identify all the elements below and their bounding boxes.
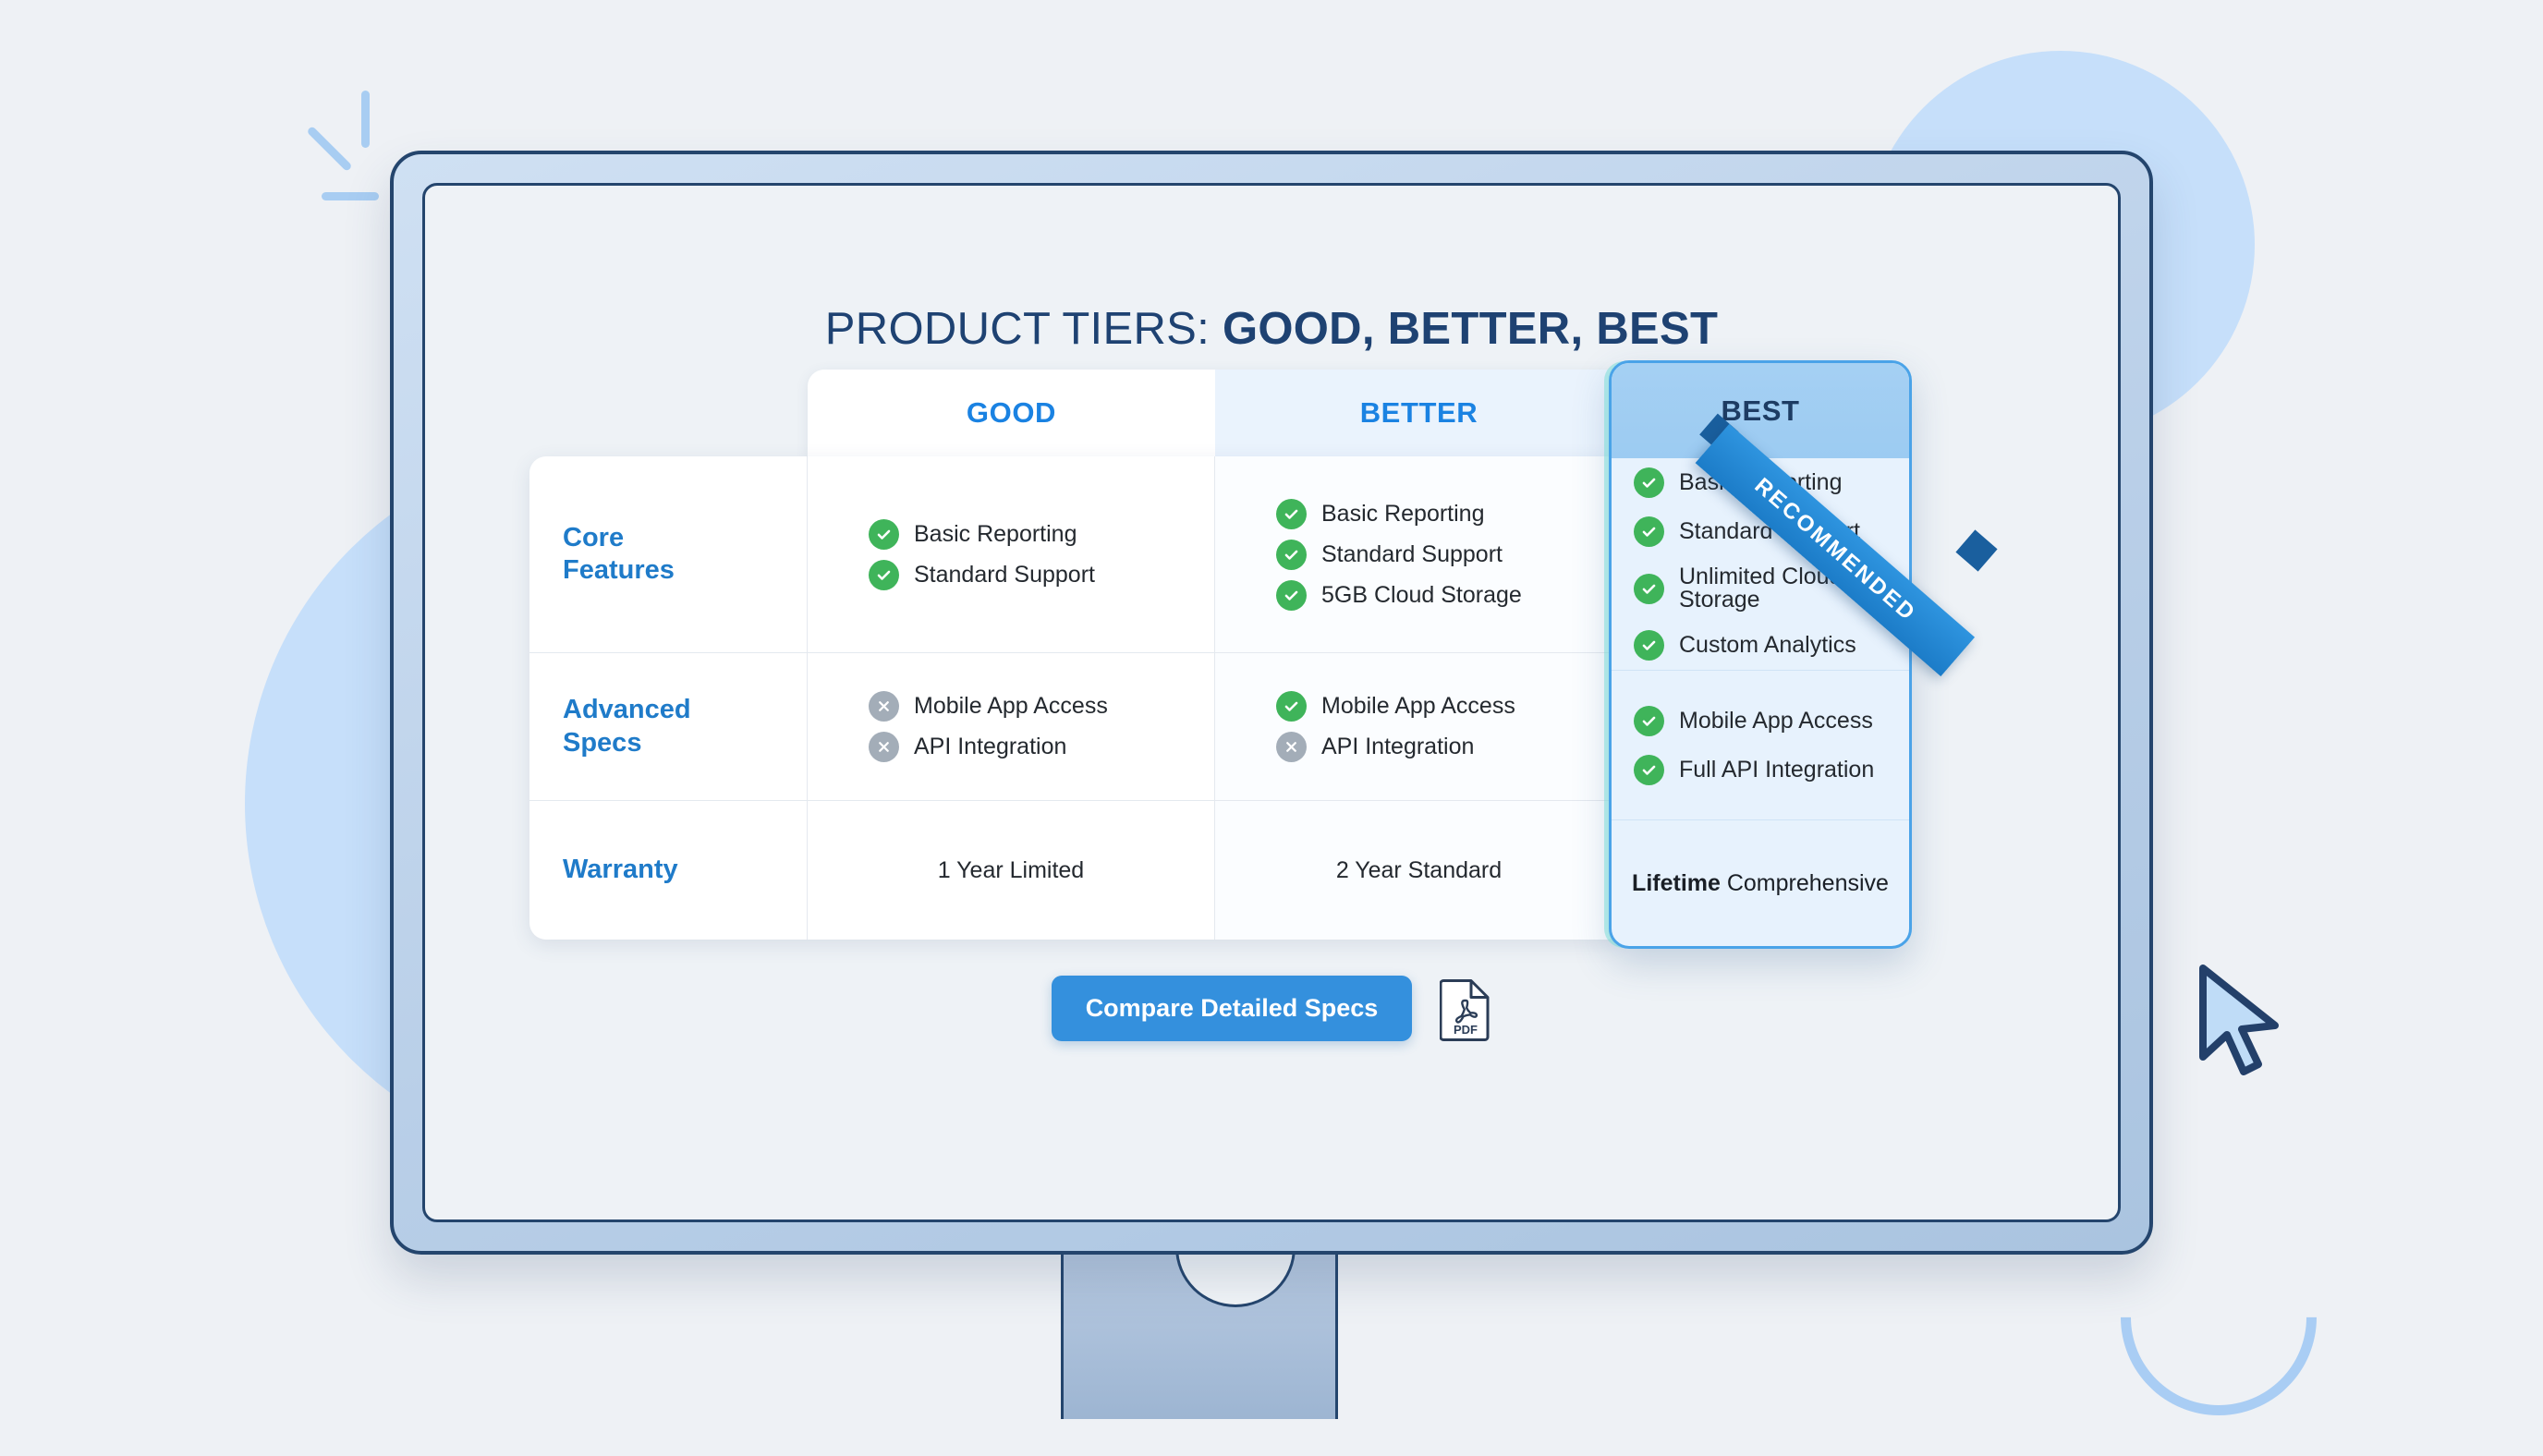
column-header-better[interactable]: BETTER	[1215, 370, 1623, 456]
feature-label: Basic Reporting	[1321, 503, 1484, 526]
feature-list: Mobile App Access API Integration	[808, 681, 1214, 772]
list-item: API Integration	[1276, 732, 1623, 762]
cell-advanced-better: Mobile App Access API Integration	[1215, 653, 1623, 801]
feature-list: Basic Reporting Standard Support	[808, 509, 1214, 601]
cell-core-good: Basic Reporting Standard Support	[808, 456, 1215, 653]
row-label-line1: Core	[563, 522, 807, 554]
sparkle-line-icon	[322, 192, 379, 200]
list-item: Full API Integration	[1634, 755, 1909, 785]
plan-card-best[interactable]: BEST Basic Reporting Standard Support	[1609, 360, 1912, 949]
monitor-screen: PRODUCT TIERS: GOOD, BETTER, BEST GOOD B…	[422, 183, 2121, 1222]
list-item: Custom Analytics	[1634, 630, 1909, 661]
feature-label: Standard Support	[1321, 543, 1503, 566]
pdf-icon-label: PDF	[1454, 1023, 1478, 1037]
feature-label: Basic Reporting	[914, 523, 1077, 546]
table-header-row: GOOD BETTER	[808, 370, 1623, 456]
column-header-best: BEST	[1612, 363, 1909, 458]
page-title-emphasis: GOOD, BETTER, BEST	[1223, 304, 1718, 354]
warranty-value-emphasis: Lifetime	[1632, 870, 1721, 896]
feature-label: API Integration	[914, 735, 1066, 758]
list-item: Unlimited Cloud Storage	[1634, 565, 1909, 612]
pdf-download-button[interactable]: PDF	[1440, 977, 1491, 1041]
cell-advanced-best: Mobile App Access Full API Integration	[1612, 671, 1909, 820]
page-title-prefix: PRODUCT TIERS:	[825, 304, 1223, 354]
page-title: PRODUCT TIERS: GOOD, BETTER, BEST	[425, 305, 2118, 355]
check-circle-icon	[1634, 755, 1664, 785]
warranty-value: Lifetime Comprehensive	[1612, 870, 1909, 897]
list-item: Basic Reporting	[1634, 467, 1909, 498]
pdf-file-icon: PDF	[1440, 977, 1491, 1041]
list-item: Standard Support	[1634, 516, 1909, 547]
column-header-good[interactable]: GOOD	[808, 370, 1215, 456]
footer-actions: Compare Detailed Specs PDF	[425, 976, 2118, 1041]
feature-label: Standard Support	[1679, 520, 1860, 543]
check-circle-icon	[1276, 540, 1307, 570]
feature-label: Basic Reporting	[1679, 471, 1842, 494]
cell-warranty-best: Lifetime Comprehensive	[1612, 820, 1909, 946]
row-label-line1: Warranty	[563, 854, 807, 886]
list-item: 5GB Cloud Storage	[1276, 580, 1623, 611]
feature-list: Mobile App Access API Integration	[1215, 681, 1623, 772]
cell-warranty-good: 1 Year Limited	[808, 801, 1215, 940]
check-circle-icon	[1276, 691, 1307, 722]
table-body: Core Features Basic Reporting	[529, 456, 1623, 940]
cross-circle-icon	[1276, 732, 1307, 762]
row-label-core-features: Core Features	[529, 456, 808, 653]
list-item: Mobile App Access	[1276, 691, 1623, 722]
warranty-value: 2 Year Standard	[1215, 857, 1623, 884]
cell-core-better: Basic Reporting Standard Support 5GB Clo…	[1215, 456, 1623, 653]
monitor-frame: PRODUCT TIERS: GOOD, BETTER, BEST GOOD B…	[390, 151, 2153, 1255]
check-circle-icon	[1634, 574, 1664, 604]
row-label-advanced-specs: Advanced Specs	[529, 653, 808, 801]
row-label-warranty: Warranty	[529, 801, 808, 940]
sparkle-line-icon	[361, 91, 370, 148]
feature-label: Mobile App Access	[1321, 695, 1515, 718]
cell-advanced-good: Mobile App Access API Integration	[808, 653, 1215, 801]
row-label-text: Core Features	[529, 522, 807, 588]
check-circle-icon	[1634, 706, 1664, 736]
list-item: Basic Reporting	[1276, 499, 1623, 529]
cell-core-best: Basic Reporting Standard Support Unlimit…	[1612, 458, 1909, 671]
compare-detailed-specs-button[interactable]: Compare Detailed Specs	[1052, 976, 1413, 1041]
row-label-line2: Features	[563, 554, 807, 587]
feature-list: Basic Reporting Standard Support 5GB Clo…	[1215, 489, 1623, 621]
feature-label: Unlimited Cloud Storage	[1679, 565, 1909, 612]
check-circle-icon	[1276, 580, 1307, 611]
feature-label: 5GB Cloud Storage	[1321, 584, 1522, 607]
check-circle-icon	[1276, 499, 1307, 529]
feature-label: Custom Analytics	[1679, 634, 1856, 657]
check-circle-icon	[869, 519, 899, 550]
list-item: Mobile App Access	[869, 691, 1214, 722]
cross-circle-icon	[869, 691, 899, 722]
feature-label: Mobile App Access	[914, 695, 1108, 718]
check-circle-icon	[1634, 467, 1664, 498]
list-item: API Integration	[869, 732, 1214, 762]
check-circle-icon	[1634, 516, 1664, 547]
feature-label: Standard Support	[914, 564, 1095, 587]
check-circle-icon	[869, 560, 899, 590]
sparkle-line-icon	[306, 126, 352, 172]
comparison-table: GOOD BETTER Core Features	[529, 370, 2084, 940]
list-item: Basic Reporting	[869, 519, 1214, 550]
list-item: Mobile App Access	[1634, 706, 1909, 736]
row-label-line2: Specs	[563, 727, 807, 759]
row-label-text: Warranty	[529, 854, 807, 886]
feature-label: API Integration	[1321, 735, 1474, 758]
list-item: Standard Support	[869, 560, 1214, 590]
illustration-stage: PRODUCT TIERS: GOOD, BETTER, BEST GOOD B…	[0, 0, 2543, 1419]
warranty-value-rest: Comprehensive	[1721, 870, 1889, 896]
cell-warranty-better: 2 Year Standard	[1215, 801, 1623, 940]
warranty-value: 1 Year Limited	[808, 857, 1214, 884]
row-label-line1: Advanced	[563, 694, 807, 726]
cross-circle-icon	[869, 732, 899, 762]
check-circle-icon	[1634, 630, 1664, 661]
mouse-cursor	[2188, 961, 2299, 1095]
feature-label: Full API Integration	[1679, 758, 1874, 782]
list-item: Standard Support	[1276, 540, 1623, 570]
ribbon-fold-right	[1955, 529, 1997, 571]
feature-label: Mobile App Access	[1679, 710, 1873, 733]
row-label-text: Advanced Specs	[529, 694, 807, 759]
